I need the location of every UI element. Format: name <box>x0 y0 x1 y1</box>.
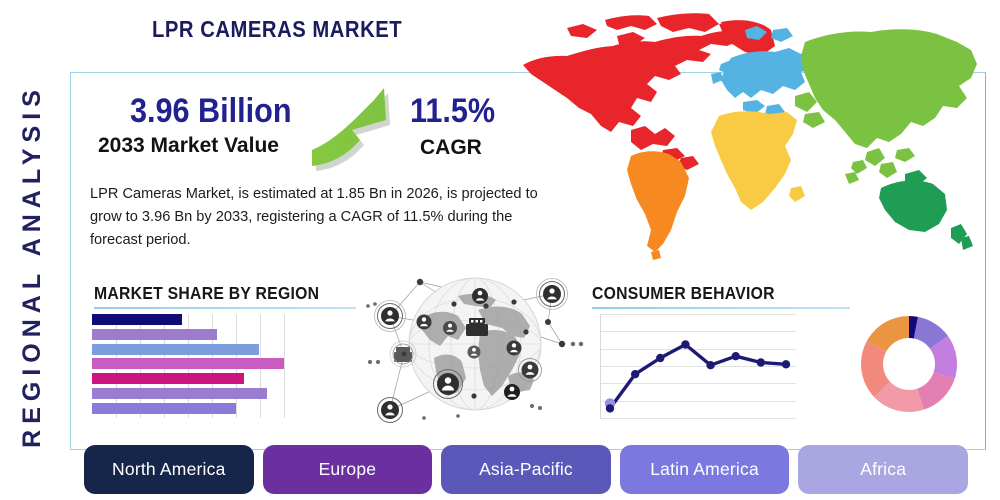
world-map-icon <box>505 2 997 270</box>
line-point-4 <box>681 340 689 348</box>
bar-1 <box>92 314 182 325</box>
kpi-row: 3.96 Billion 2033 Market Value 11.5% CAG… <box>90 92 510 172</box>
region-button-europe[interactable]: Europe <box>263 445 433 494</box>
bar-3 <box>92 344 259 355</box>
cagr-label: CAGR <box>420 136 482 160</box>
region-button-latin-america[interactable]: Latin America <box>620 445 790 494</box>
line-point-7 <box>757 358 765 366</box>
bar-5 <box>92 373 244 384</box>
region-button-bar[interactable]: North AmericaEuropeAsia-PacificLatin Ame… <box>84 445 968 494</box>
market-value-label: 2033 Market Value <box>98 134 279 158</box>
region-button-africa[interactable]: Africa <box>798 445 968 494</box>
bar-2 <box>92 329 217 340</box>
side-label-regional-analysis: REGIONAL ANALYSIS <box>12 86 52 446</box>
growth-arrow-icon <box>308 80 420 176</box>
region-button-north-america[interactable]: North America <box>84 445 254 494</box>
line-point-6 <box>732 352 740 360</box>
segment-donut-chart <box>857 312 961 416</box>
section-title-consumer-behavior: CONSUMER BEHAVIOR <box>592 283 775 304</box>
consumer-behavior-line-chart <box>600 314 796 418</box>
section-rule-market-share <box>94 307 356 309</box>
market-share-bar-chart <box>92 314 284 418</box>
bar-6 <box>92 388 267 399</box>
bar-4 <box>92 358 284 369</box>
line-point-3 <box>656 354 664 362</box>
bar-gridline <box>284 314 285 418</box>
line-point-1 <box>606 404 614 412</box>
donut-segment-4 <box>917 372 955 410</box>
line-point-2 <box>631 370 639 378</box>
globe-network-icon <box>362 266 588 430</box>
cagr-figure: 11.5% <box>410 92 495 131</box>
page-title: LPR CAMERAS MARKET <box>152 16 402 43</box>
market-value-figure: 3.96 Billion <box>130 92 292 131</box>
market-description: LPR Cameras Market, is estimated at 1.85… <box>90 183 560 252</box>
section-rule-consumer-behavior <box>592 307 850 309</box>
line-gridline <box>600 418 796 419</box>
section-title-market-share: MARKET SHARE BY REGION <box>94 283 319 304</box>
infographic-root: REGIONAL ANALYSIS LPR CAMERAS MARKET <box>0 0 1000 500</box>
bar-7 <box>92 403 236 414</box>
region-button-asia-pacific[interactable]: Asia-Pacific <box>441 445 611 494</box>
line-point-5 <box>706 361 714 369</box>
line-point-8 <box>782 360 790 368</box>
